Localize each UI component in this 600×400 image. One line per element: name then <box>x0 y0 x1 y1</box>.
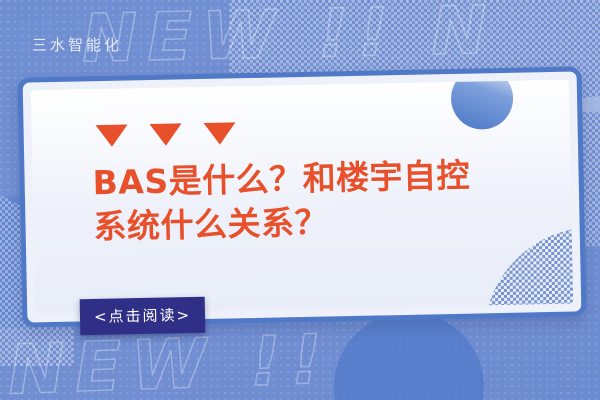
headline-line-1: BAS是什么？和楼宇自控 <box>92 156 470 203</box>
content-card: BAS是什么？和楼宇自控 系统什么关系？ <box>18 66 587 327</box>
headline: BAS是什么？和楼宇自控 系统什么关系？ <box>92 152 542 248</box>
read-more-button[interactable]: <点击阅读> <box>80 297 206 335</box>
poster-canvas: NEW !! N NEW !! 三水智能化 BAS是什么？和楼宇自控 系统什么关… <box>0 0 600 400</box>
triangle-down-icon <box>203 122 235 145</box>
bullet-triangles <box>96 122 236 147</box>
triangle-down-icon <box>150 123 182 146</box>
decorative-new-text-top: NEW !! N <box>81 0 497 77</box>
headline-line-2: 系统什么关系？ <box>93 196 542 249</box>
card-surface: BAS是什么？和楼宇自控 系统什么关系？ <box>31 80 573 315</box>
triangle-down-icon <box>96 124 128 147</box>
card-frame: BAS是什么？和楼宇自控 系统什么关系？ <box>18 66 587 327</box>
brand-watermark: 三水智能化 <box>32 34 122 55</box>
accent-circle-icon <box>450 80 513 130</box>
